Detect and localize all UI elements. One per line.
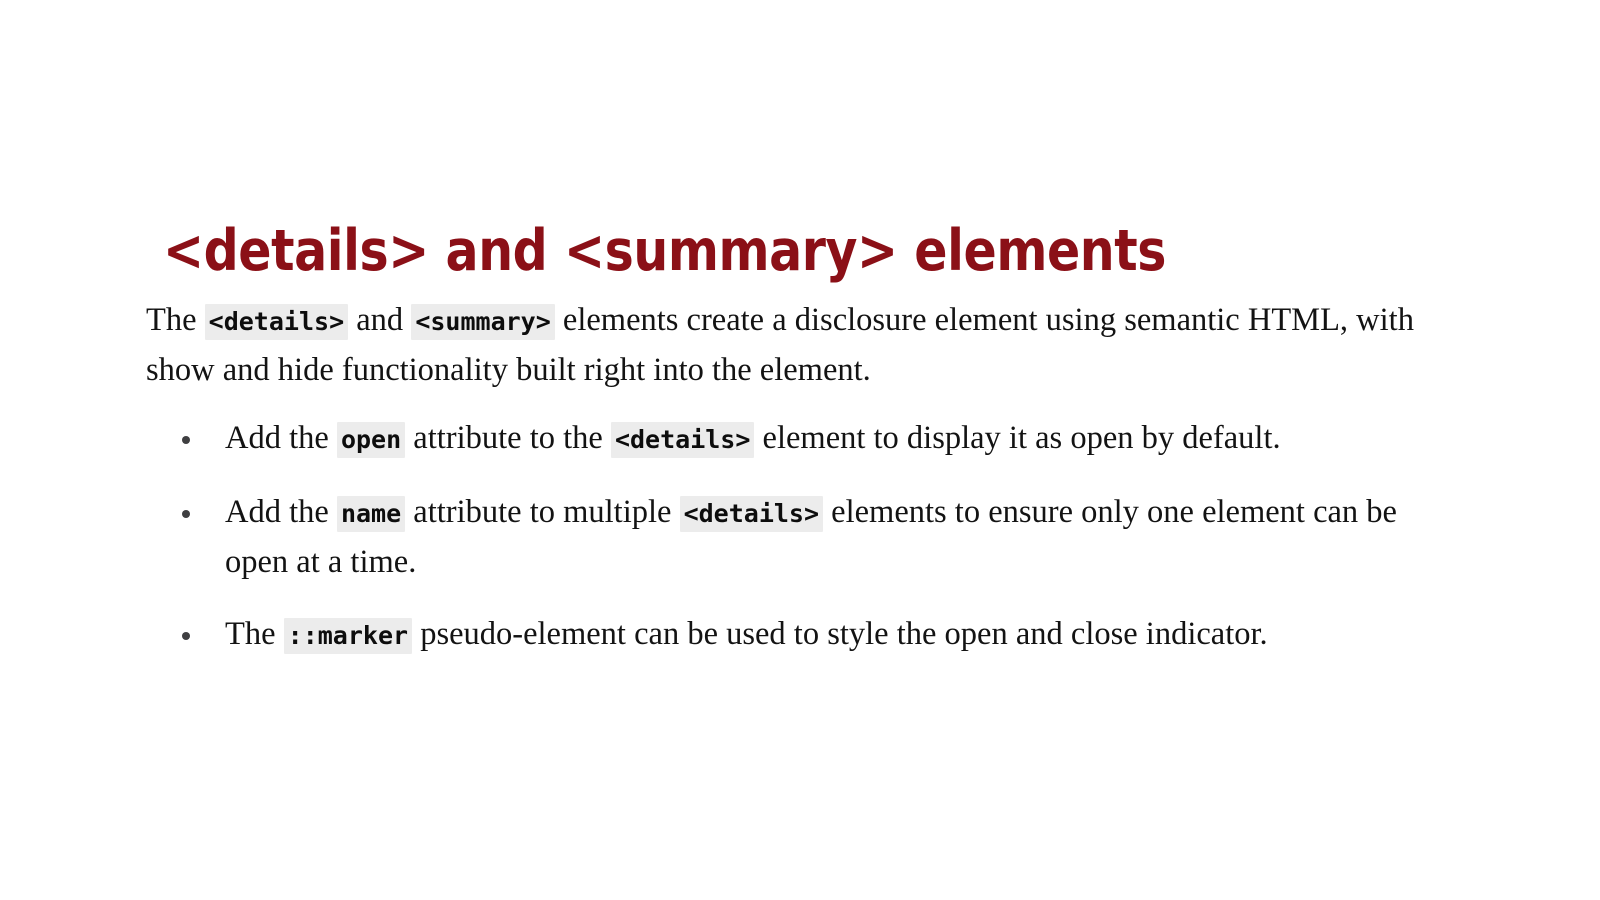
bullet-3-text-part-2: pseudo-element can be used to style the … <box>412 616 1268 652</box>
dot-bullet-icon <box>182 436 190 444</box>
bullet-1-text-part-2: attribute to the <box>405 420 611 456</box>
intro-paragraph: The <details> and <summary> elements cre… <box>146 296 1436 394</box>
code-details-1: <details> <box>205 304 348 340</box>
code-open: open <box>337 422 405 458</box>
bullet-1-text-part-1: Add the <box>225 420 337 456</box>
code-marker-pseudo: ::marker <box>284 618 412 654</box>
slide-content: The <details> and <summary> elements cre… <box>146 296 1436 660</box>
page-title: <details> and <summary> elements <box>163 222 1166 282</box>
code-details-2: <details> <box>611 422 754 458</box>
bullet-2-text-part-1: Add the <box>225 494 337 530</box>
bullet-list: Add the open attribute to the <details> … <box>146 414 1436 660</box>
list-item: Add the open attribute to the <details> … <box>146 414 1436 464</box>
code-name: name <box>337 496 405 532</box>
slide: <details> and <summary> elements The <de… <box>0 0 1600 900</box>
code-summary-1: <summary> <box>411 304 554 340</box>
bullet-1-text-part-3: element to display it as open by default… <box>754 420 1280 456</box>
dot-bullet-icon <box>182 632 190 640</box>
intro-text-part-1: The <box>146 302 205 338</box>
code-details-3: <details> <box>680 496 823 532</box>
list-item: Add the name attribute to multiple <deta… <box>146 488 1436 586</box>
intro-text-part-2: and <box>348 302 411 338</box>
list-item: The ::marker pseudo-element can be used … <box>146 610 1436 660</box>
dot-bullet-icon <box>182 510 190 518</box>
bullet-3-text-part-1: The <box>225 616 284 652</box>
bullet-2-text-part-2: attribute to multiple <box>405 494 679 530</box>
